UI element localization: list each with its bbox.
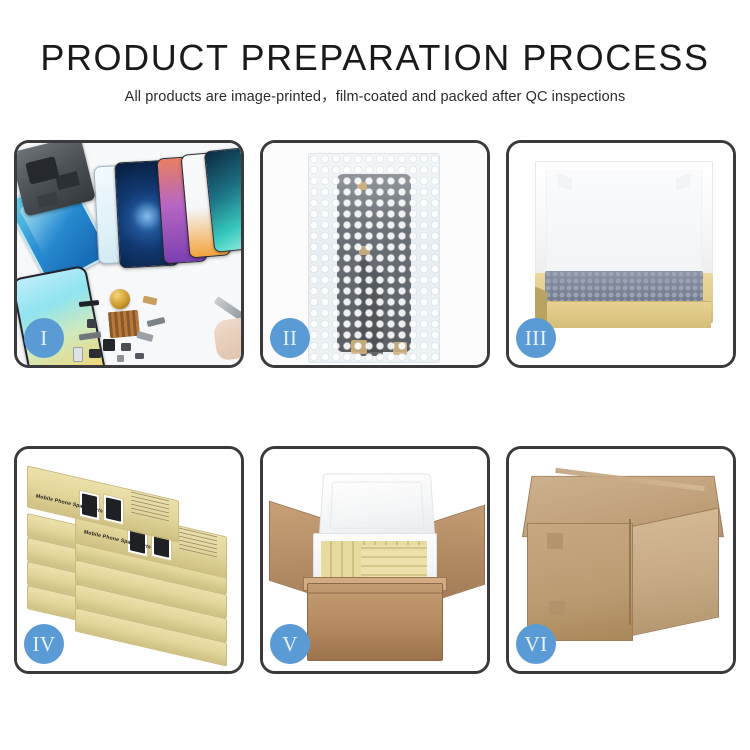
process-step-panel-3: III: [506, 140, 736, 368]
process-step-panel-6: VI: [506, 446, 736, 674]
spare-part: [103, 339, 115, 351]
protective-foam: [545, 271, 703, 305]
carton-tape-patch: [547, 533, 563, 549]
carton-edge: [629, 519, 631, 625]
step-badge-3: III: [516, 318, 556, 358]
step-badge-2: II: [270, 318, 310, 358]
spare-part: [89, 349, 101, 358]
process-step-panel-4: Mobile Phone Spare Parts Mobile Phone Sp…: [14, 446, 244, 674]
chip-grid-part: [108, 310, 140, 339]
gold-coil-part: [110, 289, 130, 309]
spare-part: [135, 353, 144, 359]
page-title: PRODUCT PREPARATION PROCESS: [0, 36, 750, 80]
spare-part: [87, 319, 96, 328]
process-step-grid: I II: [14, 140, 736, 685]
step-badge-4: IV: [24, 624, 64, 664]
carton-tape-patch: [549, 601, 565, 615]
bubble-wrap-bag: [308, 153, 440, 363]
carton-front-face: [527, 523, 633, 641]
spare-part: [73, 347, 83, 362]
process-step-panel-5: V: [260, 446, 490, 674]
white-box-lid: [535, 161, 713, 275]
box-window: [103, 494, 124, 526]
process-step-panel-1: I: [14, 140, 244, 368]
product-preparation-infographic: PRODUCT PREPARATION PROCESS All products…: [0, 0, 750, 750]
foam-cooler-lid: [319, 474, 436, 539]
shipping-carton-open: [307, 583, 443, 661]
step-badge-6: VI: [516, 624, 556, 664]
process-step-panel-2: II: [260, 140, 490, 368]
bubble-texture: [309, 154, 439, 362]
spare-part: [121, 343, 131, 351]
header: PRODUCT PREPARATION PROCESS All products…: [0, 36, 750, 108]
step-badge-5: V: [270, 624, 310, 664]
page-subtitle: All products are image-printed，film-coat…: [0, 86, 750, 108]
carton-side-face: [629, 507, 719, 636]
spare-part: [117, 355, 124, 362]
step-badge-1: I: [24, 318, 64, 358]
kraft-box-front: [539, 301, 711, 328]
